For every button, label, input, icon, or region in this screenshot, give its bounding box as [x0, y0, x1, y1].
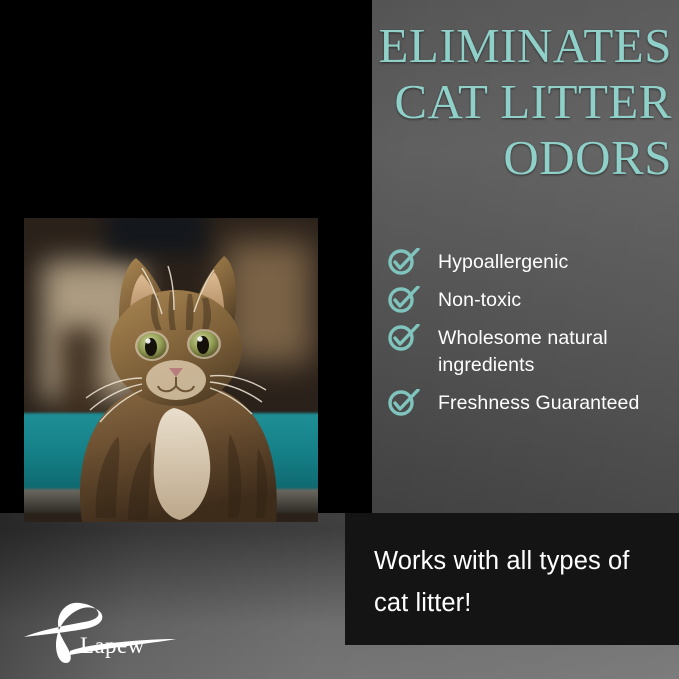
benefit-label: Freshness Guaranteed: [438, 390, 639, 417]
statement-box: Works with all types of cat litter!: [345, 513, 679, 645]
brand-name: Lapew: [80, 633, 145, 659]
benefit-item: Freshness Guaranteed: [388, 390, 676, 417]
benefit-label: Hypoallergenic: [438, 249, 568, 276]
brand-logo: Lapew: [18, 595, 198, 665]
statement-text: Works with all types of cat litter!: [374, 540, 664, 624]
product-photo: [24, 218, 318, 522]
check-circle-icon: [388, 248, 420, 275]
headline-line-2: CAT LITTER: [292, 74, 672, 130]
benefit-item: Non-toxic: [388, 287, 676, 314]
benefit-label: Non-toxic: [438, 287, 521, 314]
kitten-illustration: [24, 218, 318, 522]
benefit-item: Wholesome natural ingredients: [388, 325, 676, 379]
benefit-item: Hypoallergenic: [388, 249, 676, 276]
check-circle-icon: [388, 389, 420, 416]
headline-line-3: ODORS: [292, 130, 672, 186]
check-circle-icon: [388, 286, 420, 313]
headline-line-1: ELIMINATES: [292, 18, 672, 74]
product-advertisement: ELIMINATES CAT LITTER ODORS Hypoallergen…: [0, 0, 679, 679]
headline: ELIMINATES CAT LITTER ODORS: [292, 18, 672, 186]
benefit-label: Wholesome natural ingredients: [438, 325, 676, 379]
photo-scene: [24, 218, 318, 522]
benefits-list: Hypoallergenic Non-toxic Wholesome natur…: [388, 249, 676, 417]
check-circle-icon: [388, 324, 420, 351]
